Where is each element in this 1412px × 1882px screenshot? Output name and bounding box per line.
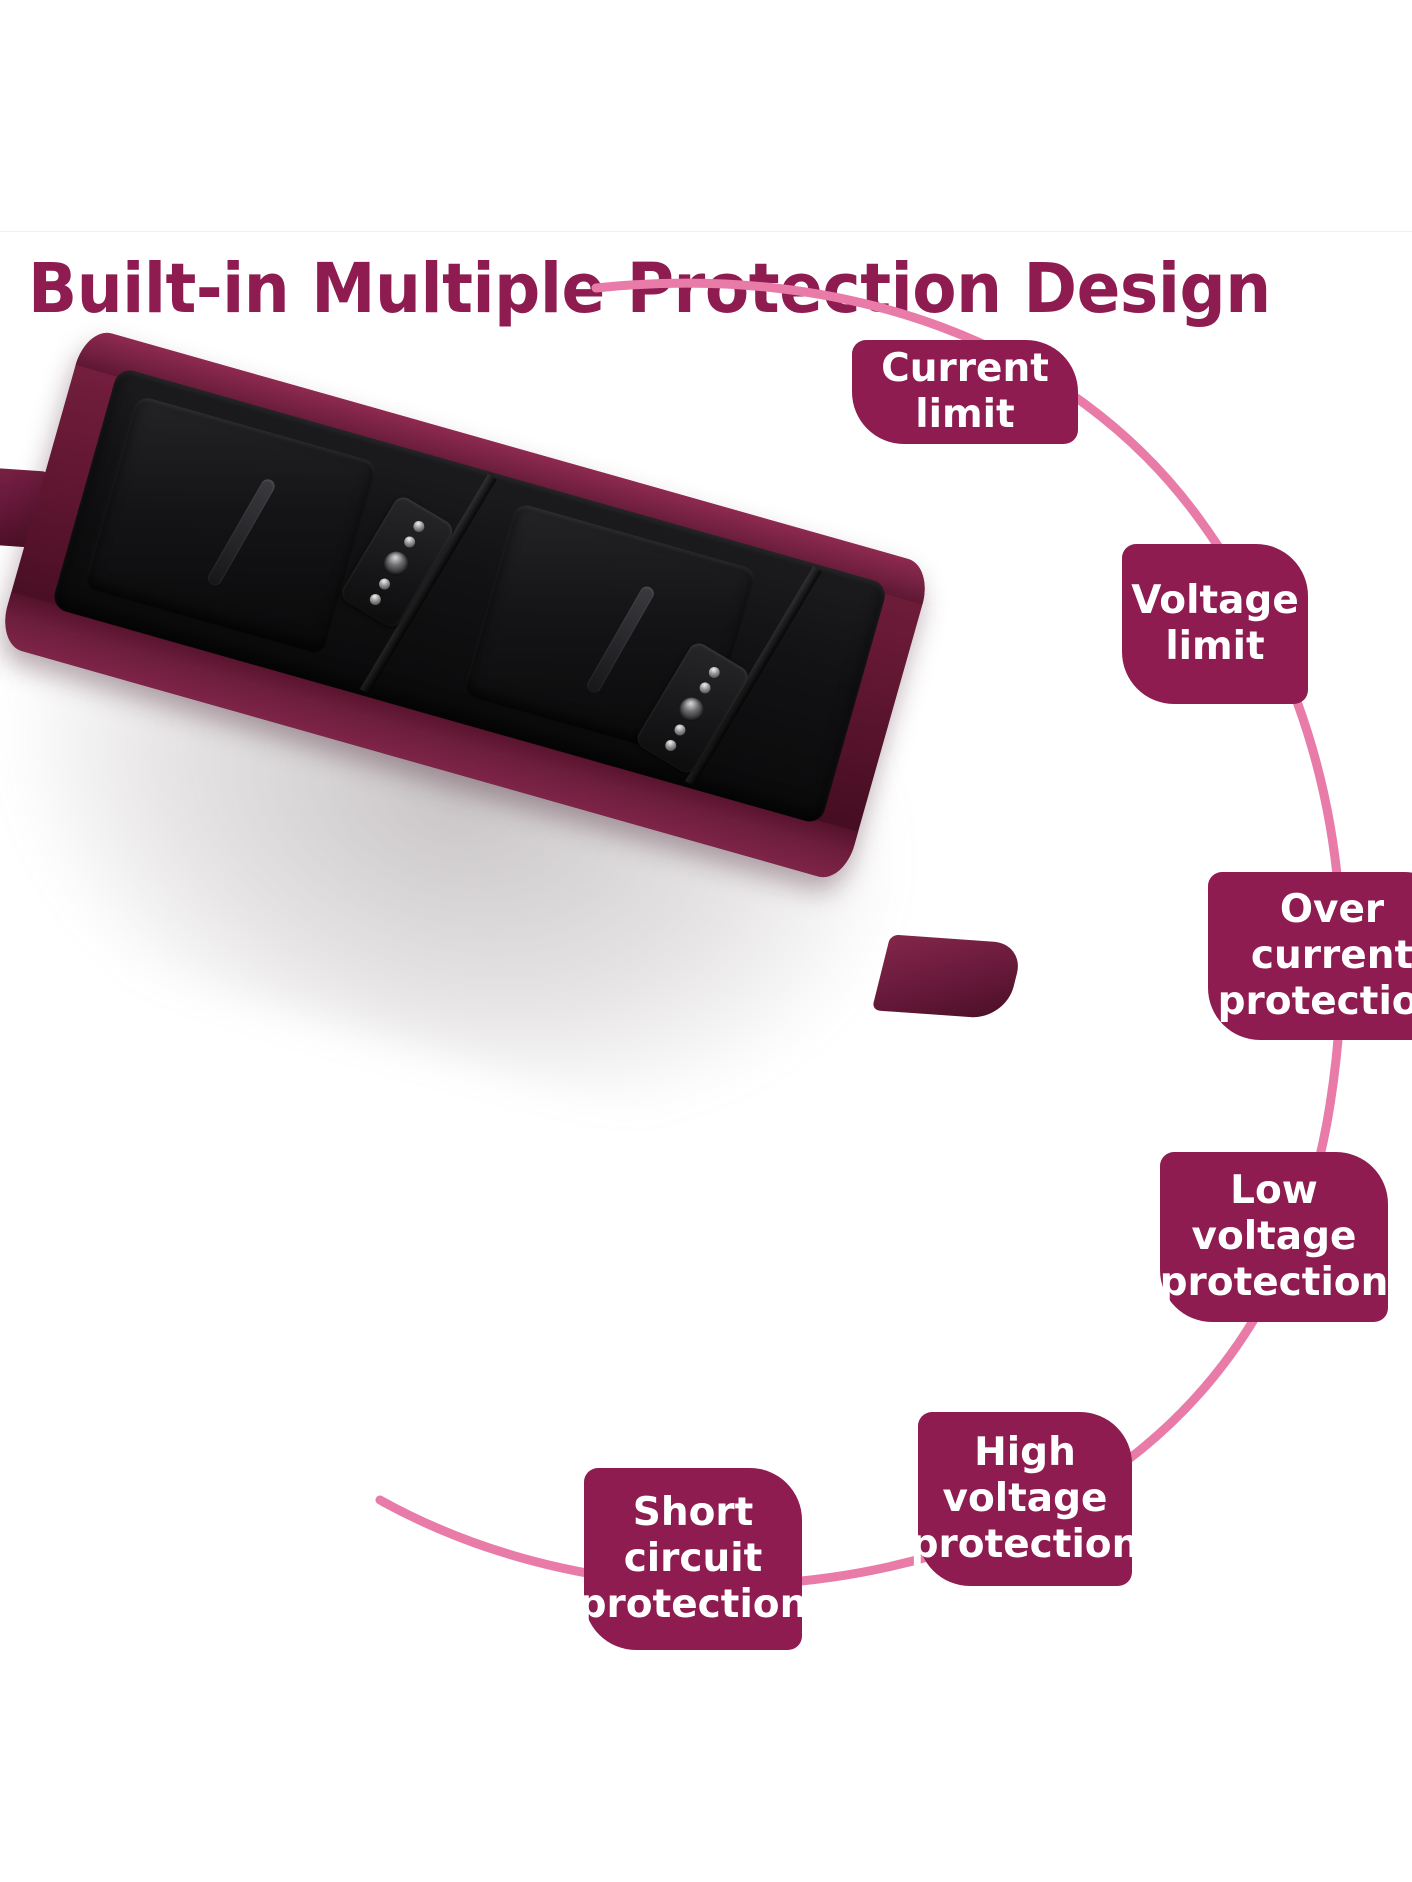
contact-pin [368, 592, 383, 607]
battery-bay-slot [205, 477, 277, 588]
badge-voltage-limit: Voltage limit [1122, 544, 1308, 704]
badge-short-circuit-protection: Short circuit protection [584, 1468, 802, 1650]
battery-charging-dock [0, 370, 950, 1100]
header-divider [0, 231, 1412, 232]
badge-over-current-protection: Over current protection [1208, 872, 1412, 1040]
product-feature-graphic: Built-in Multiple Protection Design [0, 0, 1412, 1882]
contact-pin [377, 577, 392, 592]
badge-current-limit: Current limit [852, 340, 1078, 444]
contact-pin-center [675, 693, 708, 726]
contact-pin-center [380, 547, 413, 580]
battery-bay-slot [585, 584, 657, 695]
badge-low-voltage-protection: Low voltage protection [1160, 1152, 1388, 1322]
badge-high-voltage-protection: High voltage protection [918, 1412, 1132, 1586]
contact-pin [707, 665, 722, 680]
dock-wing-right [872, 934, 1025, 1019]
contact-pin [402, 534, 417, 549]
contact-pin [411, 519, 426, 534]
page-title: Built-in Multiple Protection Design [28, 234, 963, 344]
contact-pin [698, 680, 713, 695]
contact-pin [672, 722, 687, 737]
contact-pin [663, 738, 678, 753]
battery-bay-1 [83, 395, 378, 656]
